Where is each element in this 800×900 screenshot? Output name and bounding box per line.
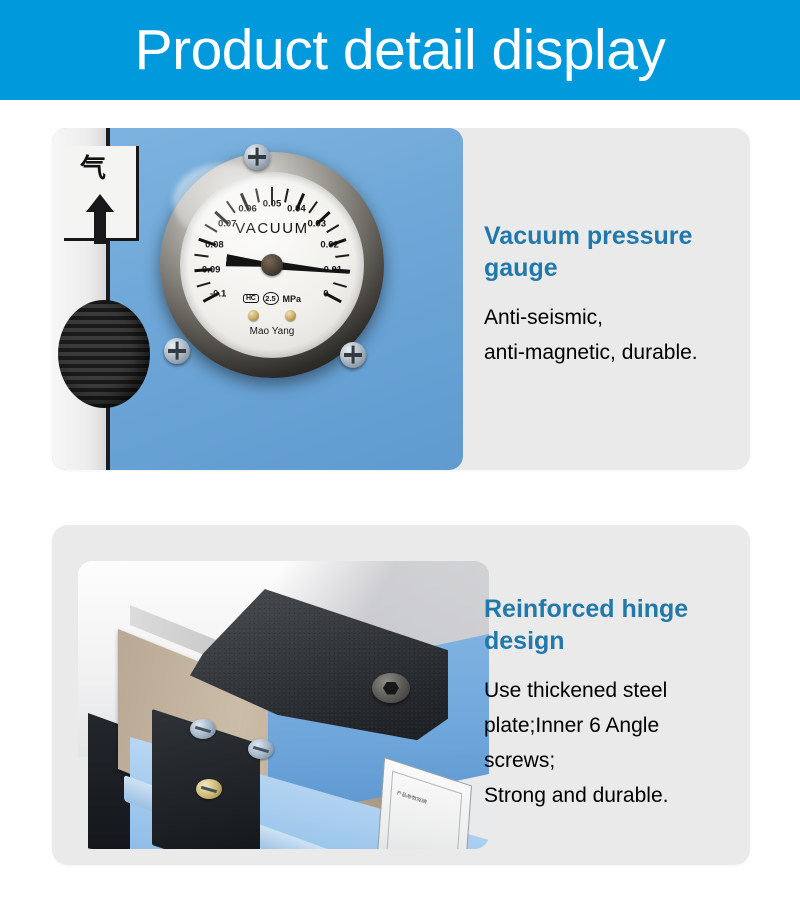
feature-description-line: Anti-seismic, (484, 300, 744, 335)
gauge-mount-screw (244, 144, 270, 170)
gauge-scale-label: 0.06 (238, 204, 257, 215)
feature-description-line: Strong and durable. (484, 778, 744, 813)
feature-description: Use thickened steel plate;Inner 6 Angle … (484, 673, 744, 813)
sticker-arrow-stem-icon (94, 210, 106, 244)
gauge-mount-screw (164, 338, 190, 364)
feature-card-reinforced-hinge: 产品参数铭牌 Reinforced hinge design Use thick… (52, 525, 750, 865)
feature-description-line: screws; (484, 743, 744, 778)
gauge-unit-text: MPa (283, 294, 302, 304)
feature-description-line: plate;Inner 6 Angle (484, 708, 744, 743)
gauge-scale-label: 0.02 (320, 239, 339, 250)
sticker-chinese-glyph: 气 (80, 152, 124, 186)
gauge-unit-row: HC 2.5 MPa (243, 292, 301, 305)
feature-title: Vacuum pressure gauge (484, 220, 744, 284)
hinge-screw (248, 739, 274, 759)
feature-description-line: Use thickened steel (484, 673, 744, 708)
gauge-glass: 00.010.020.030.040.050.060.070.080.09-0.… (180, 172, 364, 358)
feature-title: Reinforced hinge design (484, 593, 744, 657)
gauge-accuracy-class: 2.5 (263, 292, 279, 305)
gauge-dial-face: 00.010.020.030.040.050.060.070.080.09-0.… (188, 180, 356, 350)
hinge-screw (196, 779, 222, 799)
brass-screw-icon (285, 310, 296, 321)
gauge-scale-label: 0.04 (287, 204, 306, 215)
gauge-scale-label: 0.08 (205, 239, 224, 250)
gauge-brass-screws (248, 310, 296, 321)
brass-screw-icon (248, 310, 259, 321)
feature-text-block: Reinforced hinge design Use thickened st… (484, 593, 744, 813)
machine-control-knob (58, 300, 150, 408)
vacuum-pressure-gauge-photo: 气 00.010.020.030.040.050.060.070.080.09-… (52, 128, 463, 470)
gauge-standard-mark: HC (243, 294, 259, 303)
gauge-scale-label: 0.09 (202, 264, 221, 275)
gauge-scale-label: -0.1 (210, 288, 226, 299)
reinforced-hinge-photo: 产品参数铭牌 (78, 561, 489, 849)
gauge-scale-label: 0.05 (263, 199, 282, 210)
warning-sticker: 气 (64, 146, 139, 241)
gauge-scale-label: 0.03 (308, 218, 327, 229)
gauge-mount-screw (340, 342, 366, 368)
gauge-scale-label: 0.07 (218, 218, 237, 229)
feature-card-vacuum-gauge: 气 00.010.020.030.040.050.060.070.080.09-… (52, 128, 750, 470)
gauge-face-label: VACUUM (235, 220, 309, 237)
hinge-screw (190, 719, 216, 739)
hex-socket-screw-icon (372, 673, 410, 703)
feature-description-line: anti-magnetic, durable. (484, 335, 744, 370)
gauge-needle-hub (261, 254, 283, 276)
gauge-scale-label: 0 (323, 288, 328, 299)
gauge-brand-name: Mao Yang (250, 326, 295, 337)
page-title: Product detail display (135, 22, 666, 79)
page-header-banner: Product detail display (0, 0, 800, 100)
feature-description: Anti-seismic, anti-magnetic, durable. (484, 300, 744, 370)
feature-text-block: Vacuum pressure gauge Anti-seismic, anti… (484, 220, 744, 370)
